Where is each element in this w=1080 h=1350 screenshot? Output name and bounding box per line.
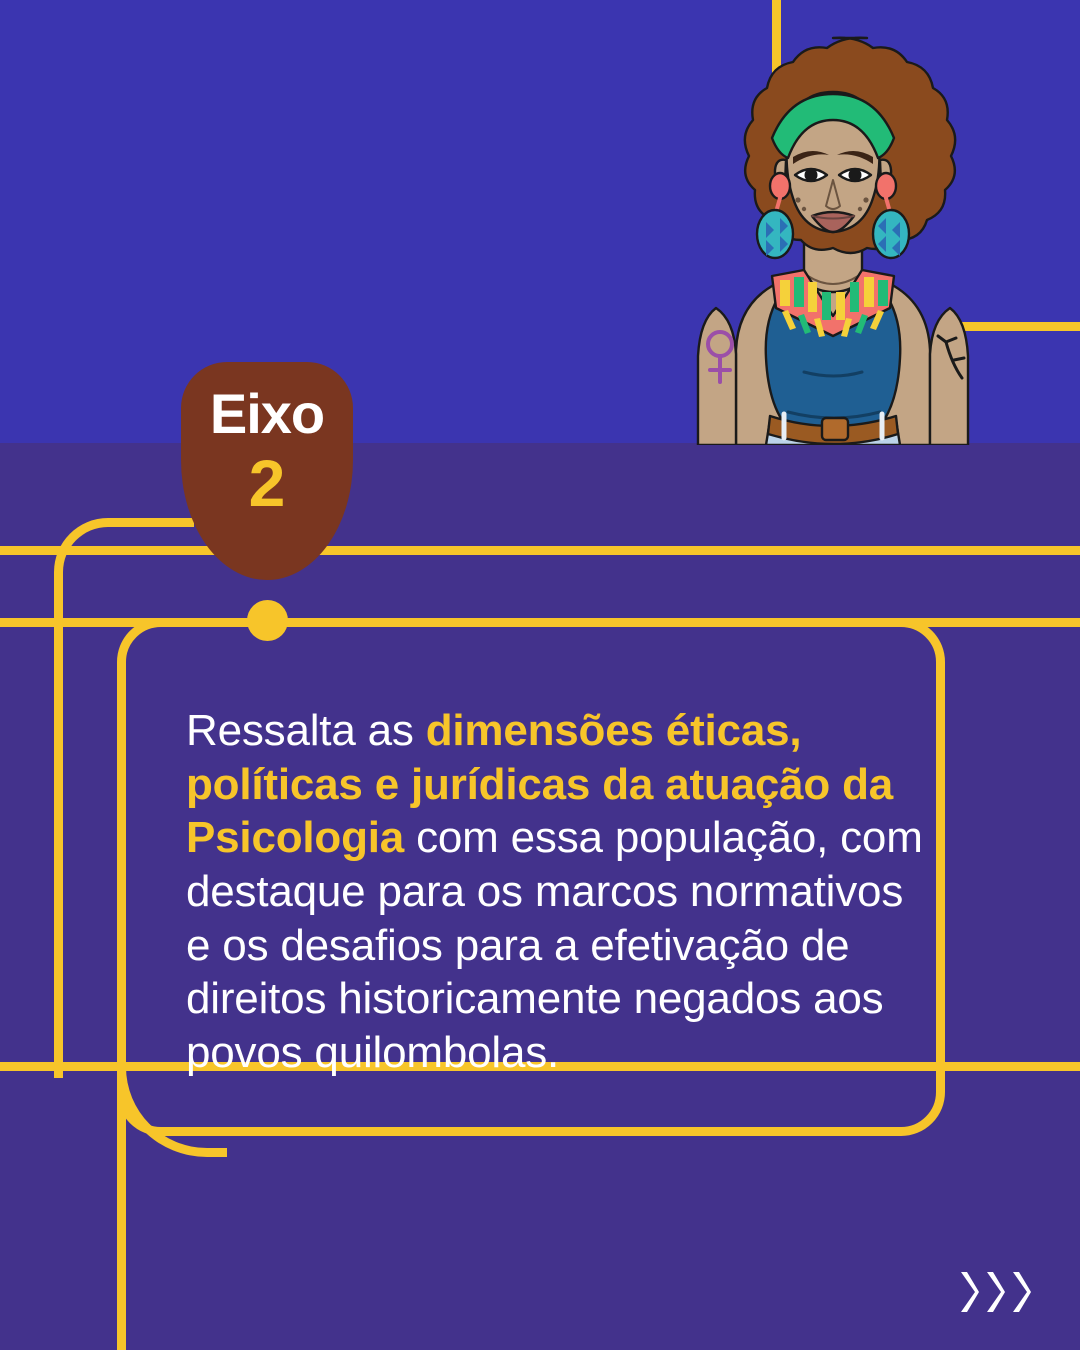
- chevron-right-icon: [985, 1270, 1006, 1314]
- next-slide-chevrons[interactable]: [959, 1270, 1032, 1314]
- chevron-right-icon: [1011, 1270, 1032, 1314]
- quilombola-woman-illustration: [676, 20, 988, 445]
- chevron-right-icon: [959, 1270, 980, 1314]
- post-canvas: Eixo 2 Ressalta as dimensões éticas, pol…: [0, 0, 1080, 1350]
- badge-number: 2: [181, 450, 353, 516]
- card-body-text: Ressalta as dimensões éticas, políticas …: [186, 704, 926, 1080]
- card-text-part-1: Ressalta as: [186, 706, 426, 755]
- card-connector-dot: [247, 600, 288, 641]
- badge-label: Eixo: [181, 386, 353, 442]
